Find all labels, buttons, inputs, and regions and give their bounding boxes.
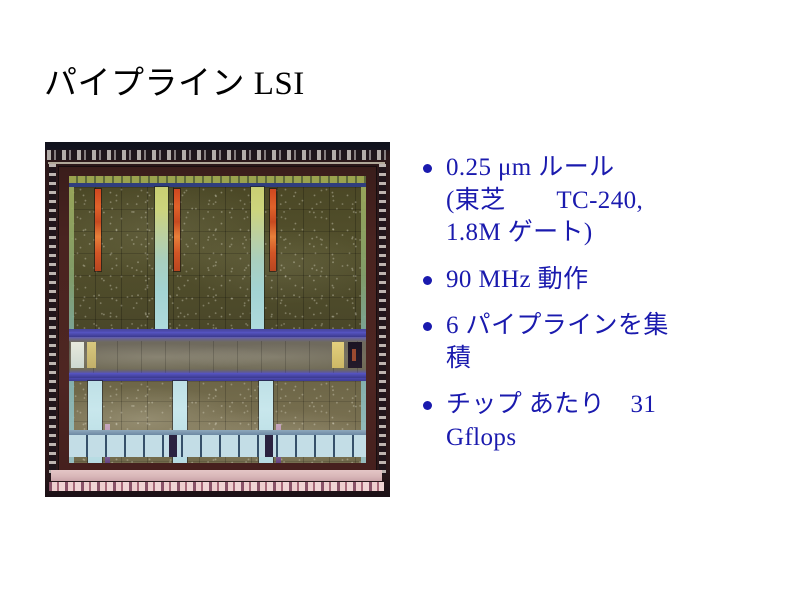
- page-title: パイプライン LSI: [44, 66, 305, 102]
- bond-pad-column-right: [379, 164, 386, 475]
- logic-block-upper: [69, 187, 366, 329]
- bullet-list: 0.25 μm ルール (東芝 TC-240, 1.8M ゲート) 90 MHz…: [420, 152, 780, 468]
- bullet-text-clock: 90 MHz 動作: [446, 264, 780, 297]
- lsi-die-photo-image: [45, 142, 390, 497]
- mid-block-left-1: [71, 342, 84, 368]
- bullet-dot-icon: [423, 401, 432, 410]
- bond-pad-row-bottom: [49, 482, 384, 491]
- memory-row-gap-2: [265, 435, 273, 457]
- mid-block-left-2: [87, 342, 96, 368]
- die-substrate-frame: [58, 166, 377, 473]
- core-power-rail-top: [69, 176, 366, 183]
- core-rail-right: [361, 187, 366, 463]
- bullet-item-process: 0.25 μm ルール (東芝 TC-240, 1.8M ゲート): [420, 152, 780, 250]
- bullet-dot-icon: [423, 164, 432, 173]
- bullet-dot-icon: [423, 276, 432, 285]
- channel-stripe-upper-2: [251, 187, 264, 329]
- die-active-core: [69, 176, 366, 463]
- bond-pad-column-left: [49, 164, 56, 475]
- bullet-item-clock: 90 MHz 動作: [420, 264, 780, 297]
- die-speckle-upper: [69, 187, 366, 329]
- die-edge-line-top: [48, 162, 385, 164]
- bullet-dot-icon: [423, 322, 432, 331]
- slide-canvas: パイプライン LSI: [0, 0, 800, 600]
- channel-stripe-upper-1: [155, 187, 168, 329]
- bullet-text-process: 0.25 μm ルール (東芝 TC-240, 1.8M ゲート): [446, 152, 780, 250]
- memory-cell-row: [69, 435, 366, 457]
- mid-block-right-1: [332, 342, 344, 368]
- bullet-text-pipelines: 6 パイプラインを集 積: [446, 310, 780, 375]
- bullet-item-performance: チップ あたり 31 Gflops: [420, 389, 780, 454]
- die-edge-bar-bottom: [51, 470, 382, 481]
- bus-rail-top: [69, 332, 366, 337]
- bus-band-texture: [69, 341, 366, 373]
- central-bus-band: [69, 329, 366, 381]
- bus-rail-bottom: [69, 373, 366, 378]
- accent-stripe-upper-1: [95, 189, 101, 271]
- accent-stripe-upper-2: [174, 189, 180, 271]
- bullet-item-pipelines: 6 パイプラインを集 積: [420, 310, 780, 375]
- accent-stripe-upper-3: [270, 189, 276, 271]
- memory-row-gap-1: [169, 435, 177, 457]
- mid-block-right-2: [348, 342, 362, 368]
- core-rail-left: [69, 187, 74, 463]
- bullet-text-performance: チップ あたり 31 Gflops: [446, 389, 780, 454]
- bond-pad-row-top: [47, 150, 386, 160]
